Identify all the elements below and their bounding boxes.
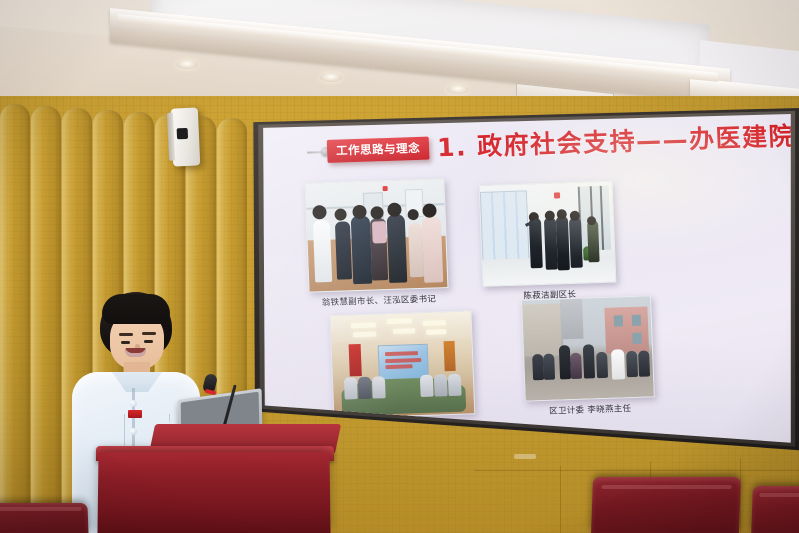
photo-figure (351, 215, 373, 284)
photo-figure (372, 376, 386, 398)
display-panel: 工作思路与理念 1. 政府社会支持——办医建院 (250, 108, 799, 463)
photo-window (632, 333, 641, 344)
photo-figure (532, 354, 544, 380)
photo-figure (528, 218, 542, 268)
photo-building (560, 299, 583, 340)
photo-detail (372, 221, 387, 243)
photo-detail (383, 186, 388, 191)
photo-detail (385, 358, 421, 363)
photo-figure (434, 374, 448, 396)
photo-detail (385, 351, 418, 356)
photo-building (522, 303, 563, 356)
photo-detail (599, 186, 603, 250)
photo-figure (583, 344, 595, 378)
photo-figure (558, 345, 570, 379)
presentation-display[interactable]: 工作思路与理念 1. 政府社会支持——办医建院 (250, 108, 799, 463)
slide-content: 工作思路与理念 1. 政府社会支持——办医建院 (266, 108, 799, 440)
photo-detail (385, 365, 413, 370)
photo-banner (348, 344, 362, 377)
badge-label: 工作思路与理念 (327, 137, 430, 163)
photo-figure (587, 220, 600, 262)
photo-frame (304, 178, 448, 293)
conference-hall-photo: 工作思路与理念 1. 政府社会支持——办医建院 (0, 0, 799, 533)
photo-figure (421, 216, 443, 283)
photo-building (604, 306, 649, 353)
presenter-name-badge (128, 410, 142, 418)
speaker-bracket (167, 113, 175, 161)
photo-figure (448, 373, 462, 395)
downlight-icon (447, 85, 469, 94)
photo-display-boards (480, 190, 530, 262)
photo-figure-head (352, 204, 367, 218)
photo-frame (329, 310, 475, 419)
photo-figure (596, 352, 608, 378)
photo-ceiling-light (350, 323, 375, 329)
photo-figure-head (556, 209, 566, 219)
photo-figure (358, 376, 372, 398)
photo-figure (420, 374, 434, 396)
photo-figure-head (312, 205, 327, 219)
photo-figure (334, 221, 351, 279)
presenter-eye (121, 341, 130, 344)
photo-figure (569, 218, 583, 268)
presenter-mouth (125, 348, 146, 357)
podium (97, 452, 330, 533)
photo-figure (556, 216, 570, 270)
wall-flute-panel (0, 104, 30, 533)
audience-chair (751, 486, 799, 533)
photo-figure (387, 214, 408, 283)
presenter-brow (142, 332, 156, 335)
photo-caption: 翁铁慧副市长、汪泓区委书记 (309, 292, 449, 309)
wall-seam (474, 470, 799, 471)
photo-window (614, 315, 623, 326)
coat-button (130, 400, 137, 407)
photo-banner (444, 340, 456, 371)
presenter-eye (144, 340, 153, 343)
photo-figure (570, 353, 582, 379)
display-brand-logo (514, 454, 536, 459)
photo-figure (626, 351, 638, 377)
presenter-brow (119, 333, 133, 336)
photo-caption: 区卫计委 李晓燕主任 (525, 401, 655, 417)
audience-chair (591, 477, 741, 533)
photo-window (631, 315, 640, 326)
wall-speaker-icon (171, 107, 201, 166)
downlight-icon (176, 60, 198, 69)
slide-photo-top-left: 翁铁慧副市长、汪泓区委书记 (304, 178, 449, 309)
photo-figure-head (422, 203, 437, 217)
slide-photo-bottom-right: 区卫计委 李晓燕主任 (521, 295, 655, 417)
slide-section-badge: 工作思路与理念 (307, 137, 430, 164)
speaker-grille (177, 128, 188, 139)
downlight-icon (320, 73, 342, 82)
slide-title: 1. 政府社会支持——办医建院 (436, 116, 795, 164)
audience-chair (0, 503, 89, 533)
presenter-hair-fringe (102, 294, 170, 324)
photo-figure (543, 354, 555, 380)
wall-flute-panel (31, 106, 61, 533)
wall-seam (560, 466, 561, 533)
photo-figure (344, 377, 358, 399)
photo-ceiling-light (387, 318, 412, 324)
photo-figure-doctor (611, 349, 625, 379)
slide-photo-top-right: 陈菽洁副区长 (479, 181, 617, 303)
photo-frame (479, 181, 617, 287)
photo-frame (521, 295, 655, 401)
photo-figure (638, 350, 650, 376)
photo-ceiling-light (423, 320, 446, 326)
photo-detail (554, 192, 560, 198)
photo-figure (312, 220, 331, 283)
